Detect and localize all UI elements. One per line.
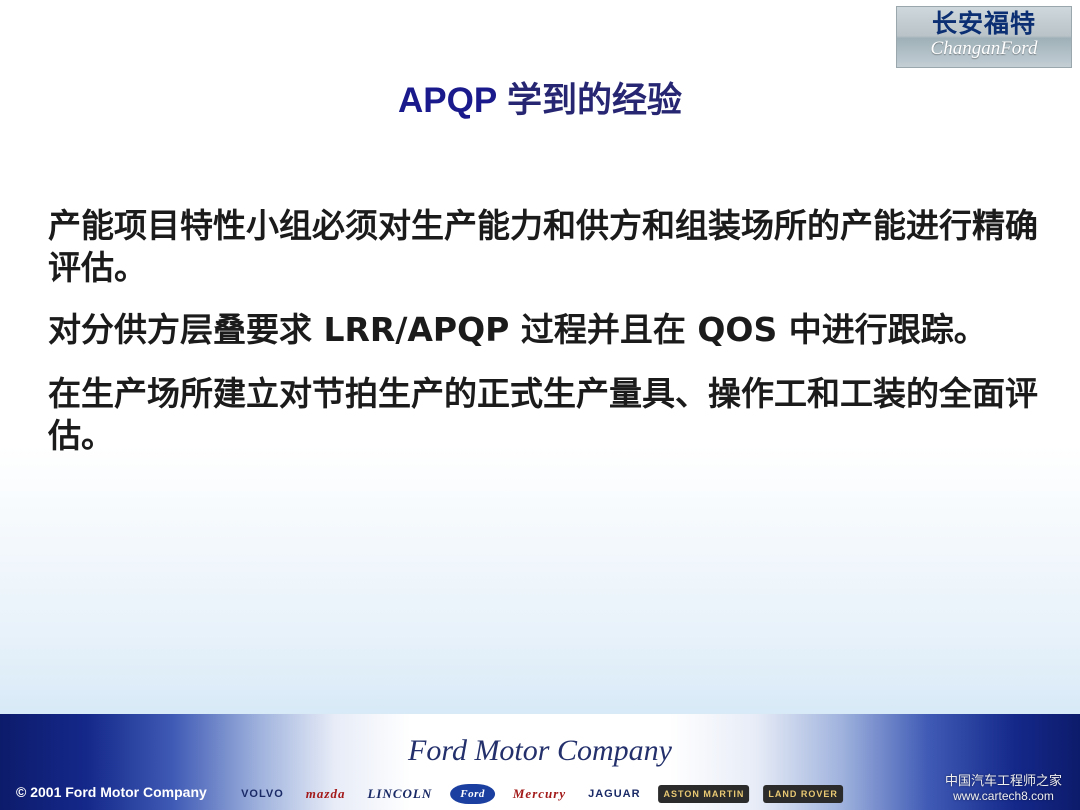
- brand-mercury: Mercury: [509, 785, 570, 803]
- body-paragraph-1: 产能项目特性小组必须对生产能力和供方和组装场所的产能进行精确评估。: [48, 205, 1038, 289]
- watermark-line-2: www.cartech8.com: [945, 789, 1062, 804]
- body-paragraph-2: 对分供方层叠要求 LRR/APQP 过程并且在 QOS 中进行跟踪。: [48, 309, 1038, 351]
- brand-logo-row: VOLVO mazda LINCOLN Ford Mercury JAGUAR …: [237, 784, 843, 804]
- ford-motor-company-wordmark: Ford Motor Company: [408, 734, 672, 768]
- slide: 长安福特 ChanganFord APQP 学到的经验 产能项目特性小组必须对生…: [0, 0, 1080, 810]
- changan-ford-logo: 长安福特 ChanganFord: [896, 6, 1072, 68]
- watermark: 中国汽车工程师之家 www.cartech8.com: [945, 774, 1062, 804]
- body-paragraph-3: 在生产场所建立对节拍生产的正式生产量具、操作工和工装的全面评估。: [48, 373, 1038, 457]
- brand-volvo: VOLVO: [237, 785, 288, 803]
- brand-mazda: mazda: [302, 785, 350, 803]
- slide-title-en: APQP: [398, 81, 497, 120]
- brand-ford: Ford: [450, 784, 495, 804]
- slide-body: 产能项目特性小组必须对生产能力和供方和组装场所的产能进行精确评估。 对分供方层叠…: [48, 205, 1038, 477]
- footer-band: Ford Motor Company VOLVO mazda LINCOLN F…: [0, 714, 1080, 810]
- slide-title: APQP 学到的经验: [0, 72, 1080, 123]
- brand-land-rover: LAND ROVER: [763, 785, 843, 803]
- watermark-line-1: 中国汽车工程师之家: [945, 774, 1062, 789]
- slide-title-cn: 学到的经验: [507, 81, 682, 121]
- brand-jaguar: JAGUAR: [584, 785, 644, 803]
- logo-chinese-text: 长安福特: [897, 10, 1071, 38]
- logo-english-text: ChanganFord: [897, 38, 1071, 60]
- brand-lincoln: LINCOLN: [363, 785, 436, 803]
- brand-aston-martin: ASTON MARTIN: [659, 785, 750, 803]
- copyright-text: © 2001 Ford Motor Company: [16, 784, 207, 800]
